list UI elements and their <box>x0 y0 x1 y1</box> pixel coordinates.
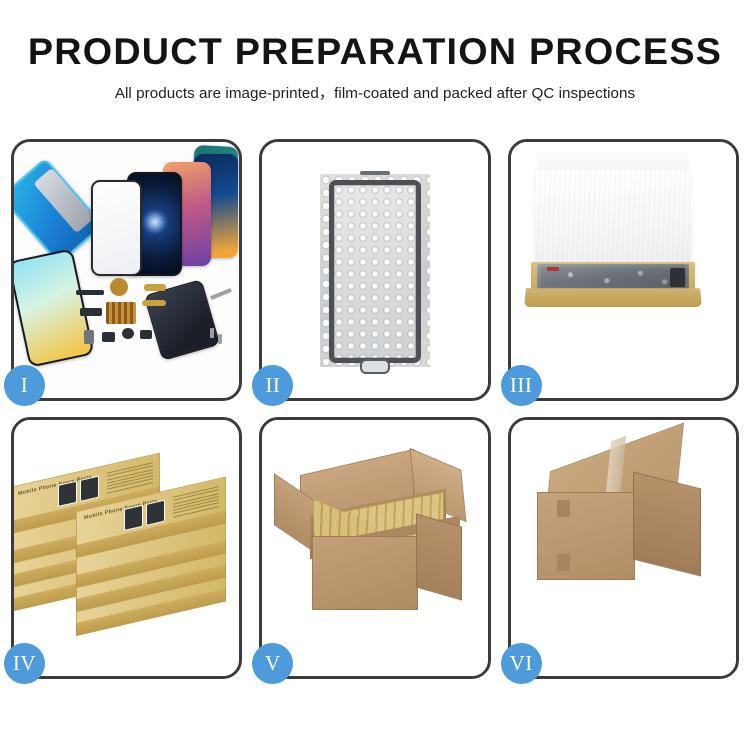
carton-side-face <box>416 513 462 600</box>
bubble-wrap-sheet <box>320 174 430 367</box>
battery-cell-icon <box>84 330 94 344</box>
red-marker-icon <box>547 267 559 271</box>
box-front-edge <box>524 288 702 307</box>
open-mailer-box-art <box>511 142 736 398</box>
carton-handle-notch <box>557 554 570 571</box>
screw-icon <box>218 334 222 344</box>
open-shipping-carton-art <box>262 420 487 676</box>
stacked-retail-boxes-art: Mobile Phone Spare Parts <box>14 420 239 676</box>
step-numeral-badge: V <box>252 643 293 684</box>
carton-right-face <box>633 472 701 577</box>
box-art-phone-icon <box>146 500 165 526</box>
screw-icon <box>210 328 214 338</box>
process-step-4: Mobile Phone Spare Parts <box>11 417 242 679</box>
phone-parts-collage-art <box>14 142 239 398</box>
bubble-wrapped-screen-art <box>262 142 487 398</box>
carton-handle-notch <box>557 500 570 517</box>
phone-back-housing-icon <box>144 279 220 361</box>
page-title: PRODUCT PREPARATION PROCESS <box>0 33 750 71</box>
step-3-image <box>511 142 736 398</box>
step-1-image <box>14 142 239 398</box>
process-step-2: II <box>259 139 490 401</box>
white-phone-icon <box>91 180 142 276</box>
tweezers-icon <box>210 288 232 300</box>
box-art-phone-icon <box>58 481 77 507</box>
foam-padding <box>535 170 691 270</box>
speaker-coil-icon <box>110 278 128 296</box>
carton-front-face <box>312 536 418 610</box>
step-2-image <box>262 142 487 398</box>
screen-assembly-in-box <box>537 264 689 291</box>
box-art-phone-icon <box>124 505 143 531</box>
header: PRODUCT PREPARATION PROCESS All products… <box>0 0 750 103</box>
step-numeral-badge: VI <box>501 643 542 684</box>
step-numeral-badge: II <box>252 365 293 406</box>
home-button-icon <box>360 359 390 374</box>
small-ic-icon <box>80 308 102 316</box>
vibrator-icon <box>102 332 115 342</box>
process-step-5: V <box>259 417 490 679</box>
process-step-6: VI <box>508 417 739 679</box>
product-process-infographic: PRODUCT PREPARATION PROCESS All products… <box>0 0 750 750</box>
carton-front-face <box>537 492 635 580</box>
side-flex-icon <box>142 300 166 306</box>
step-numeral-badge: IV <box>4 643 45 684</box>
step-5-image <box>262 420 487 676</box>
connector-grid-icon <box>106 302 136 324</box>
page-subtitle: All products are image-printed，film-coat… <box>0 81 750 103</box>
phone-screen-glass <box>329 180 421 363</box>
flex-tab-icon <box>670 268 685 287</box>
step-6-image <box>511 420 736 676</box>
earpiece-slot-icon <box>360 171 390 175</box>
button-flex-icon <box>144 284 166 291</box>
step-4-image: Mobile Phone Spare Parts <box>14 420 239 676</box>
camera-module-icon <box>122 328 134 339</box>
step-numeral-badge: I <box>4 365 45 406</box>
sim-tray-icon <box>140 330 152 339</box>
sealed-shipping-carton-art <box>511 420 736 676</box>
process-step-1: I <box>11 139 242 401</box>
step-numeral-badge: III <box>501 365 542 406</box>
box-art-phone-icon <box>80 476 99 502</box>
process-step-3: III <box>508 139 739 401</box>
flex-strip-icon <box>76 290 104 295</box>
process-step-grid: I II <box>11 139 739 679</box>
